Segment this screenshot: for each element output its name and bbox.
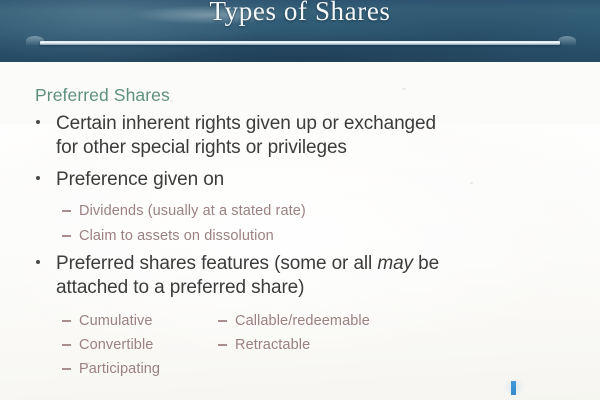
bullet-line: Certain inherent rights given up or exch… — [56, 112, 566, 136]
dash-marker-icon — [218, 320, 227, 322]
sub-bullet-label: Participating — [79, 359, 160, 380]
title-rule-right-cap — [558, 36, 576, 45]
dash-marker-icon — [218, 344, 227, 346]
slide-body: Preferred Shares Certain inherent rights… — [0, 62, 600, 400]
sub-bullet-label: Cumulative — [79, 311, 153, 332]
scan-speck — [170, 100, 173, 102]
sub-bullet-label: Dividends (usually at a stated rate) — [79, 201, 306, 222]
sub-bullet-item: Convertible — [62, 335, 153, 356]
sub-bullet-item: Cumulative — [62, 311, 153, 332]
bullet-item: Preference given on — [36, 168, 566, 192]
bullet-marker-icon — [36, 120, 40, 124]
sub-bullet-item: Participating — [62, 359, 160, 380]
bullet-text-emphasis: may — [377, 253, 413, 274]
bullet-item: Certain inherent rights given up or exch… — [36, 112, 566, 160]
slide-title: Types of Shares — [0, 0, 600, 27]
bullet-marker-icon — [36, 176, 40, 180]
dash-marker-icon — [62, 320, 71, 322]
dash-marker-icon — [62, 210, 71, 212]
sub-bullet-item: Dividends (usually at a stated rate) — [62, 201, 306, 222]
sub-bullet-item: Claim to assets on dissolution — [62, 226, 274, 247]
bullet-text-tail: be — [413, 253, 439, 274]
sub-bullet-label: Callable/redeemable — [235, 311, 370, 332]
section-heading-preferred-shares: Preferred Shares — [35, 85, 170, 106]
logo-accent-mark — [511, 381, 516, 395]
dash-marker-icon — [62, 368, 71, 370]
bullet-item: Preferred shares features (some or all m… — [36, 252, 566, 300]
scan-speck — [402, 88, 406, 90]
title-divider-rule — [40, 41, 560, 45]
bullet-marker-icon — [36, 260, 40, 264]
dash-marker-icon — [62, 235, 71, 237]
bullet-line: Preference given on — [56, 168, 566, 192]
sub-bullet-label: Claim to assets on dissolution — [79, 226, 274, 247]
slide-header: Types of Shares — [0, 0, 600, 62]
bullet-line: attached to a preferred share) — [56, 276, 566, 300]
sub-bullet-item: Callable/redeemable — [218, 311, 370, 332]
dash-marker-icon — [62, 344, 71, 346]
presentation-slide: Types of Shares Preferred Shares Certain… — [0, 0, 600, 400]
sub-bullet-label: Retractable — [235, 335, 310, 356]
bullet-text-head: Preferred shares features (some or all — [56, 253, 377, 274]
bullet-line: Preferred shares features (some or all m… — [56, 252, 566, 276]
sub-bullet-item: Retractable — [218, 335, 310, 356]
sub-bullet-label: Convertible — [79, 335, 153, 356]
bullet-line: for other special rights or privileges — [56, 136, 566, 160]
